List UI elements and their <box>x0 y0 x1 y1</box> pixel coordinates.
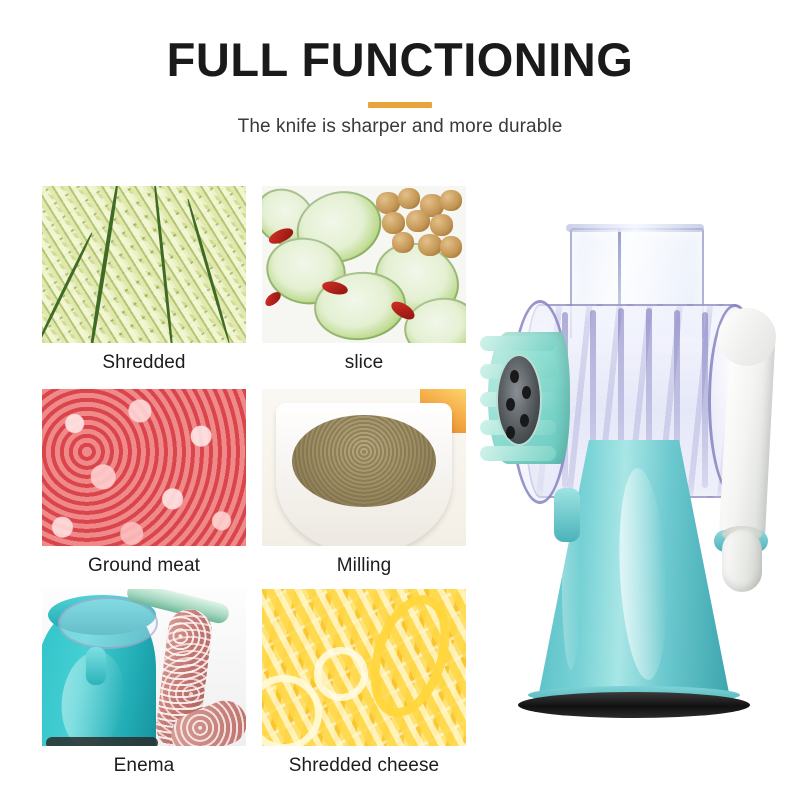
page-subtitle: The knife is sharper and more durable <box>0 116 800 138</box>
feature-caption: slice <box>262 352 466 374</box>
cucumber-slices-image <box>262 186 466 343</box>
crank-handle-grip <box>722 530 762 592</box>
feature-grid: Shredded <box>42 186 466 776</box>
feature-item-enema: Enema <box>42 589 246 777</box>
feature-item-shredded-cheese: Shredded cheese <box>262 589 466 777</box>
feature-caption: Ground meat <box>42 555 246 577</box>
feature-item-slice: slice <box>262 186 466 374</box>
feature-item-milling: Milling <box>262 389 466 577</box>
hopper-rim <box>566 224 704 232</box>
product-image-rotary-slicer <box>470 200 800 760</box>
ground-meat-image <box>42 389 246 546</box>
feature-caption: Enema <box>42 755 246 777</box>
shredded-cheese-image <box>262 589 466 746</box>
feature-item-ground-meat: Ground meat <box>42 389 246 577</box>
suction-foot <box>518 692 750 718</box>
shredded-cucumber-image <box>42 186 246 343</box>
product-infographic: FULL FUNCTIONING The knife is sharper an… <box>0 0 800 800</box>
feature-caption: Shredded <box>42 352 246 374</box>
feature-caption: Milling <box>262 555 466 577</box>
title-underline-accent <box>368 102 432 108</box>
feature-item-shredded: Shredded <box>42 186 246 374</box>
sausage-stuffing-image <box>42 589 246 746</box>
release-latch <box>554 488 580 542</box>
peanut-cluster <box>374 188 464 266</box>
feature-caption: Shredded cheese <box>262 755 466 777</box>
page-title: FULL FUNCTIONING <box>0 36 800 84</box>
blade-plate <box>496 354 542 446</box>
milling-powder-image <box>262 389 466 546</box>
crank-hub <box>718 308 776 366</box>
